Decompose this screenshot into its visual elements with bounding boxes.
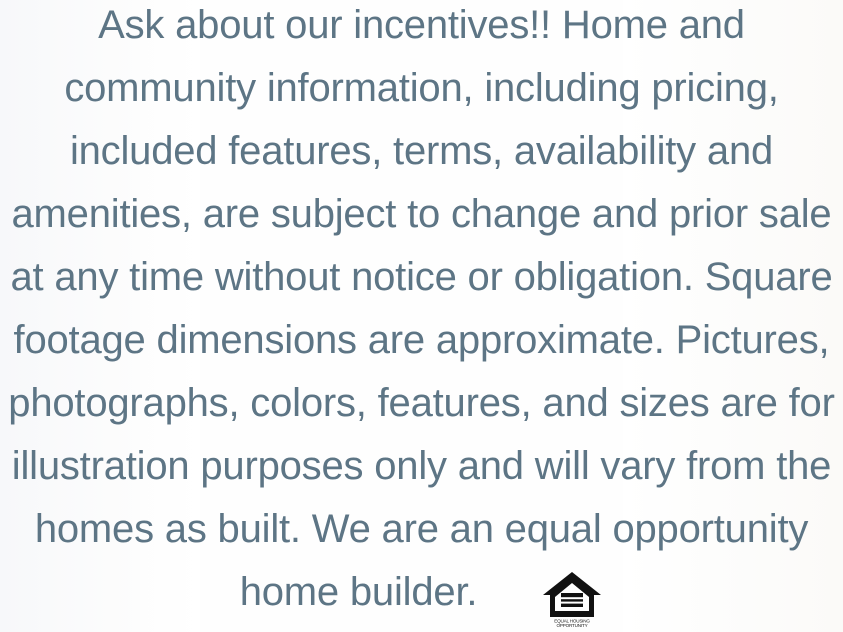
slide-canvas: Ask about our incentives!! Home and comm… — [0, 0, 843, 632]
disclaimer-line-2: community information, including pricing… — [0, 57, 843, 120]
disclaimer-line-4: amenities, are subject to change and pri… — [0, 183, 843, 246]
equal-housing-opportunity-logo: EQUAL HOUSING OPPORTUNITY — [541, 570, 603, 628]
logo-caption-line-2: OPPORTUNITY — [557, 623, 588, 628]
disclaimer-line-7: photographs, colors, features, and sizes… — [0, 372, 843, 435]
disclaimer-line-6: footage dimensions are approximate. Pict… — [0, 309, 843, 372]
disclaimer-line-1: Ask about our incentives!! Home and — [0, 0, 843, 57]
equal-bars-block — [561, 593, 583, 607]
equal-bar-gap-top — [561, 597, 583, 599]
disclaimer-final-line-row: home builder. EQUAL HOUSING OPPORTUNITY — [0, 561, 843, 624]
disclaimer-line-8: illustration purposes only and will vary… — [0, 435, 843, 498]
equal-bar-gap-bottom — [561, 601, 583, 603]
disclaimer-line-3: included features, terms, availability a… — [0, 120, 843, 183]
disclaimer-line-9: homes as built. We are an equal opportun… — [0, 498, 843, 561]
disclaimer-text-block: Ask about our incentives!! Home and comm… — [0, 0, 843, 624]
disclaimer-line-5: at any time without notice or obligation… — [0, 246, 843, 309]
logo-caption: EQUAL HOUSING OPPORTUNITY — [555, 618, 591, 627]
disclaimer-line-10: home builder. — [240, 561, 478, 624]
